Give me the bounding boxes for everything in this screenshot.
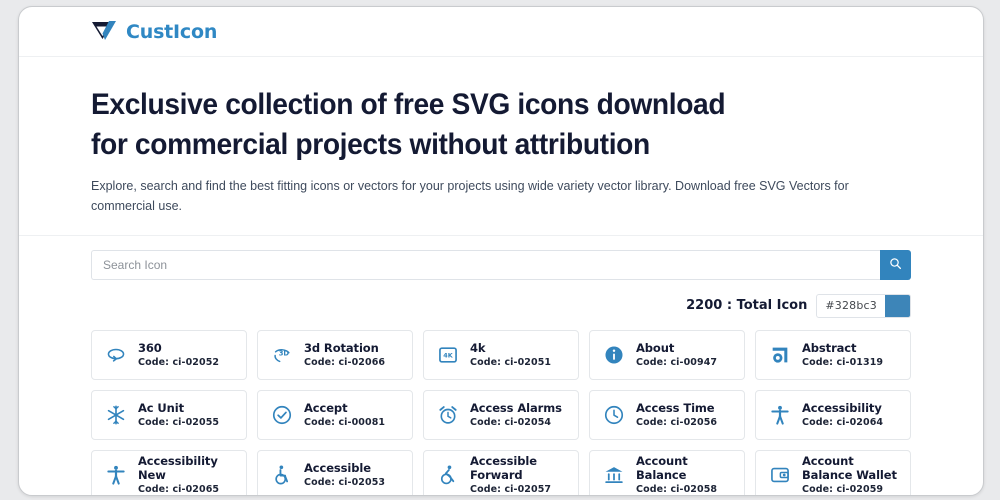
svg-text:4K: 4K [443, 351, 453, 359]
icon-card-text: 3d RotationCode: ci-02066 [304, 341, 385, 368]
color-swatch[interactable] [885, 295, 910, 317]
icon-card-title: Accept [304, 401, 385, 415]
site-header: CustIcon [19, 7, 983, 57]
icon-card-code: Code: ci-02058 [636, 484, 734, 495]
brand-name: CustIcon [126, 21, 217, 43]
icon-card[interactable]: Account BalanceCode: ci-02058 [589, 450, 745, 496]
icon-card-text: AccessibleCode: ci-02053 [304, 461, 385, 488]
icon-card-text: Account Balance WalletCode: ci-02059 [802, 454, 900, 496]
search-section [19, 236, 983, 280]
icon-card-code: Code: ci-02052 [138, 357, 219, 368]
icon-card-code: Code: ci-02051 [470, 357, 551, 368]
icon-card-title: Account Balance [636, 454, 734, 483]
icon-card-text: AbstractCode: ci-01319 [802, 341, 883, 368]
icon-card-title: Accessibility [802, 401, 883, 415]
icon-card-code: Code: ci-02059 [802, 484, 900, 495]
wheelchair-forward-icon [437, 464, 459, 486]
icon-card-text: AboutCode: ci-00947 [636, 341, 717, 368]
icon-card-text: 4kCode: ci-02051 [470, 341, 551, 368]
icon-card-title: 3d Rotation [304, 341, 385, 355]
icon-card-text: Ac UnitCode: ci-02055 [138, 401, 219, 428]
icon-card-code: Code: ci-02066 [304, 357, 385, 368]
snowflake-icon [105, 404, 127, 426]
icon-card-title: About [636, 341, 717, 355]
browser-page-frame: CustIcon Exclusive collection of free SV… [18, 6, 984, 496]
icon-card-text: Access AlarmsCode: ci-02054 [470, 401, 562, 428]
color-hex-value: #328bc3 [817, 295, 885, 317]
page-title-line-1: Exclusive collection of free SVG icons d… [91, 88, 725, 121]
icon-card[interactable]: 3D3d RotationCode: ci-02066 [257, 330, 413, 380]
icon-card-title: Abstract [802, 341, 883, 355]
icon-card[interactable]: Account Balance WalletCode: ci-02059 [755, 450, 911, 496]
icon-card[interactable]: AbstractCode: ci-01319 [755, 330, 911, 380]
page-title-line-2: for commercial projects without attribut… [91, 128, 650, 161]
icon-card-code: Code: ci-00081 [304, 417, 385, 428]
icon-card[interactable]: Accessibility NewCode: ci-02065 [91, 450, 247, 496]
icon-card-text: Account BalanceCode: ci-02058 [636, 454, 734, 496]
search-row [91, 250, 911, 280]
search-icon [889, 257, 902, 273]
icon-card-code: Code: ci-02054 [470, 417, 562, 428]
icon-card-code: Code: ci-02056 [636, 417, 717, 428]
wallet-icon [769, 464, 791, 486]
icon-card-title: 4k [470, 341, 551, 355]
icon-card[interactable]: AboutCode: ci-00947 [589, 330, 745, 380]
color-picker-field[interactable]: #328bc3 [816, 294, 911, 318]
icon-card-code: Code: ci-02065 [138, 484, 236, 495]
alarm-clock-icon [437, 404, 459, 426]
icon-card-title: Accessible Forward [470, 454, 568, 483]
page-title: Exclusive collection of free SVG icons d… [91, 85, 862, 164]
page-subtitle: Explore, search and find the best fittin… [91, 176, 891, 217]
icon-card-title: Access Alarms [470, 401, 562, 415]
icon-card[interactable]: Access TimeCode: ci-02056 [589, 390, 745, 440]
icon-card-code: Code: ci-00947 [636, 357, 717, 368]
icon-card-title: 360 [138, 341, 219, 355]
accessibility-icon [769, 404, 791, 426]
icon-card-code: Code: ci-02064 [802, 417, 883, 428]
icon-card-code: Code: ci-02057 [470, 484, 568, 495]
search-input[interactable] [91, 250, 880, 280]
icon-card-text: AccessibilityCode: ci-02064 [802, 401, 883, 428]
accessibility-new-icon [105, 464, 127, 486]
icon-card[interactable]: 360Code: ci-02052 [91, 330, 247, 380]
icon-card[interactable]: 4K4kCode: ci-02051 [423, 330, 579, 380]
hero-section: Exclusive collection of free SVG icons d… [19, 57, 983, 236]
icon-count-row: 2200 : Total Icon #328bc3 [19, 280, 983, 318]
icon-card-title: Access Time [636, 401, 717, 415]
bank-icon [603, 464, 625, 486]
icon-card-title: Ac Unit [138, 401, 219, 415]
icon-card[interactable]: Access AlarmsCode: ci-02054 [423, 390, 579, 440]
wheelchair-icon [271, 464, 293, 486]
total-icon-count: 2200 : Total Icon [686, 298, 807, 313]
icon-card-text: Access TimeCode: ci-02056 [636, 401, 717, 428]
icon-card-code: Code: ci-01319 [802, 357, 883, 368]
search-submit-button[interactable] [880, 250, 911, 280]
info-circle-icon [603, 344, 625, 366]
icon-card-title: Accessible [304, 461, 385, 475]
icon-card-code: Code: ci-02055 [138, 417, 219, 428]
check-circle-icon [271, 404, 293, 426]
icon-card[interactable]: AccessibilityCode: ci-02064 [755, 390, 911, 440]
4k-icon: 4K [437, 344, 459, 366]
icon-card[interactable]: Ac UnitCode: ci-02055 [91, 390, 247, 440]
icon-card-title: Account Balance Wallet [802, 454, 900, 483]
svg-text:3D: 3D [279, 349, 290, 357]
abstract-icon [769, 344, 791, 366]
icon-card-title: Accessibility New [138, 454, 236, 483]
rotate-360-icon [105, 344, 127, 366]
3d-rotation-icon: 3D [271, 344, 293, 366]
icon-card[interactable]: AcceptCode: ci-00081 [257, 390, 413, 440]
icon-card-text: Accessible ForwardCode: ci-02057 [470, 454, 568, 496]
icon-card-text: AcceptCode: ci-00081 [304, 401, 385, 428]
icon-card[interactable]: Accessible ForwardCode: ci-02057 [423, 450, 579, 496]
icon-card-text: Accessibility NewCode: ci-02065 [138, 454, 236, 496]
icon-card-code: Code: ci-02053 [304, 477, 385, 488]
brand-logo-link[interactable]: CustIcon [91, 20, 217, 44]
icon-results-grid: 360Code: ci-020523D3d RotationCode: ci-0… [19, 318, 983, 496]
clock-icon [603, 404, 625, 426]
icon-card[interactable]: AccessibleCode: ci-02053 [257, 450, 413, 496]
icon-card-text: 360Code: ci-02052 [138, 341, 219, 368]
custicon-logo-mark-icon [91, 20, 119, 44]
